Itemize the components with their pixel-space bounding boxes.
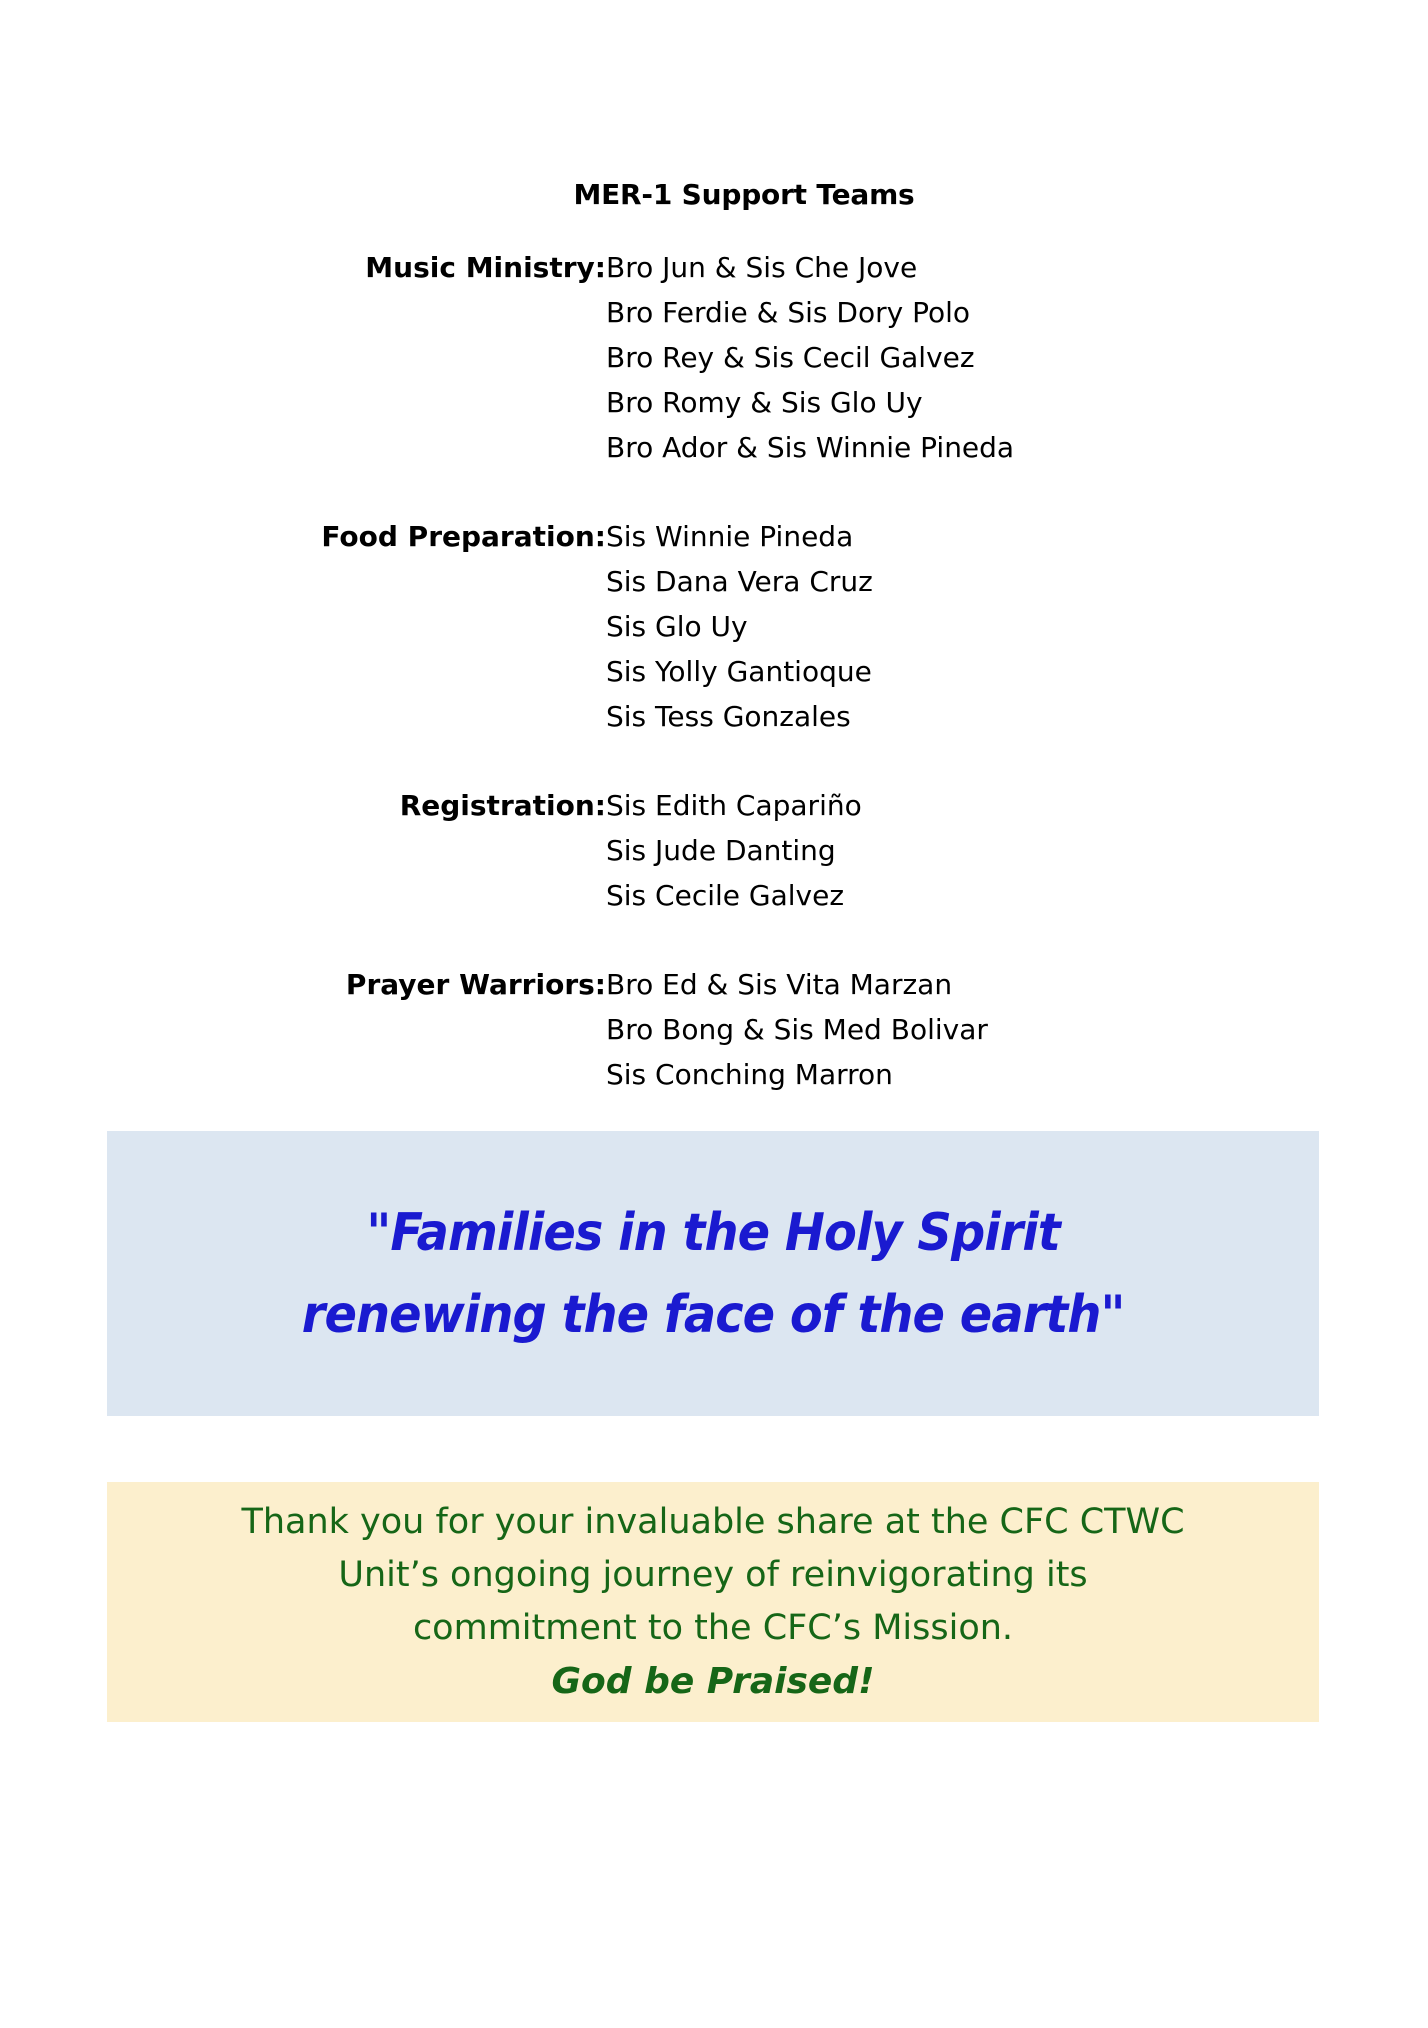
- list-item: Bro Romy & Sis Glo Uy: [606, 380, 1428, 425]
- table-row: Food Preparation: Sis Winnie Pineda Sis …: [0, 514, 1428, 739]
- team-members-music-ministry: Bro Jun & Sis Che Jove Bro Ferdie & Sis …: [606, 245, 1428, 470]
- table-row: Registration: Sis Edith Capariño Sis Jud…: [0, 783, 1428, 918]
- support-teams-table: Music Ministry: Bro Jun & Sis Che Jove B…: [0, 245, 1428, 1097]
- thanks-emphasis-line: God be Praised!: [107, 1655, 1319, 1708]
- page-title: MER-1 Support Teams: [0, 178, 1428, 211]
- team-members-prayer-warriors: Bro Ed & Sis Vita Marzan Bro Bong & Sis …: [606, 962, 1428, 1097]
- list-item: Sis Cecile Galvez: [606, 873, 1428, 918]
- team-label-registration: Registration:: [0, 783, 606, 918]
- list-item: Sis Yolly Gantioque: [606, 649, 1428, 694]
- mission-quote-banner: "Families in the Holy Spirit renewing th…: [107, 1131, 1319, 1416]
- list-item: Sis Edith Capariño: [606, 783, 1428, 828]
- thanks-line-2: Unit’s ongoing journey of reinvigorating…: [107, 1549, 1319, 1602]
- list-item: Sis Glo Uy: [606, 604, 1428, 649]
- quote-line-1: "Families in the Holy Spirit: [302, 1192, 1125, 1274]
- list-item: Sis Conching Marron: [606, 1052, 1428, 1097]
- team-members-food-preparation: Sis Winnie Pineda Sis Dana Vera Cruz Sis…: [606, 514, 1428, 739]
- thank-you-banner: Thank you for your invaluable share at t…: [107, 1482, 1319, 1722]
- spacer-cell: [606, 918, 1428, 962]
- thanks-line-3: commitment to the CFC’s Mission.: [107, 1602, 1319, 1655]
- spacer-cell: [0, 918, 606, 962]
- list-item: Sis Dana Vera Cruz: [606, 559, 1428, 604]
- row-spacer: [0, 918, 1428, 962]
- quote-line-2: renewing the face of the earth": [302, 1274, 1125, 1356]
- spacer-cell: [0, 470, 606, 514]
- spacer-cell: [0, 739, 606, 783]
- document-page: MER-1 Support Teams Music Ministry: Bro …: [0, 0, 1428, 2028]
- thanks-line-1: Thank you for your invaluable share at t…: [107, 1496, 1319, 1549]
- table-row: Music Ministry: Bro Jun & Sis Che Jove B…: [0, 245, 1428, 470]
- list-item: Bro Ador & Sis Winnie Pineda: [606, 425, 1428, 470]
- table-row: Prayer Warriors: Bro Ed & Sis Vita Marza…: [0, 962, 1428, 1097]
- support-teams-roster: MER-1 Support Teams Music Ministry: Bro …: [0, 178, 1428, 1097]
- team-label-prayer-warriors: Prayer Warriors:: [0, 962, 606, 1097]
- list-item: Sis Jude Danting: [606, 828, 1428, 873]
- team-label-food-preparation: Food Preparation:: [0, 514, 606, 739]
- list-item: Sis Tess Gonzales: [606, 694, 1428, 739]
- row-spacer: [0, 739, 1428, 783]
- list-item: Bro Jun & Sis Che Jove: [606, 245, 1428, 290]
- team-members-registration: Sis Edith Capariño Sis Jude Danting Sis …: [606, 783, 1428, 918]
- mission-quote-text: "Families in the Holy Spirit renewing th…: [302, 1192, 1125, 1356]
- thank-you-text: Thank you for your invaluable share at t…: [107, 1496, 1319, 1708]
- list-item: Bro Ed & Sis Vita Marzan: [606, 962, 1428, 1007]
- row-spacer: [0, 470, 1428, 514]
- list-item: Bro Bong & Sis Med Bolivar: [606, 1007, 1428, 1052]
- list-item: Sis Winnie Pineda: [606, 514, 1428, 559]
- spacer-cell: [606, 470, 1428, 514]
- list-item: Bro Rey & Sis Cecil Galvez: [606, 335, 1428, 380]
- list-item: Bro Ferdie & Sis Dory Polo: [606, 290, 1428, 335]
- team-label-music-ministry: Music Ministry:: [0, 245, 606, 470]
- spacer-cell: [606, 739, 1428, 783]
